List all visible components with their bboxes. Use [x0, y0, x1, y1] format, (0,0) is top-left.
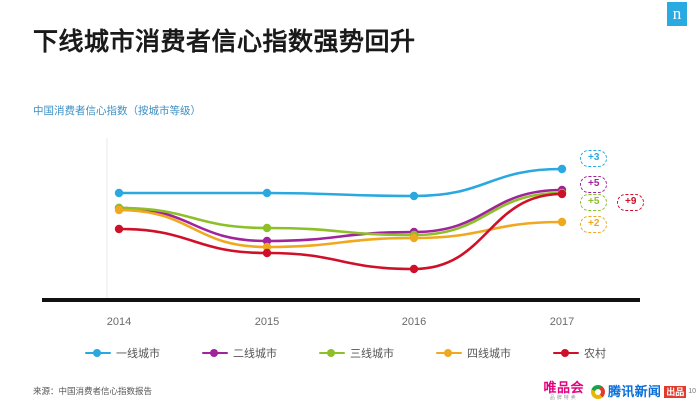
legend-item-四线城市[interactable]: 四线城市 [436, 345, 511, 361]
page-title: 下线城市消费者信心指数强势回升 [33, 22, 416, 58]
data-point[interactable] [410, 228, 418, 236]
series-lines [119, 169, 562, 269]
legend-label: 四线城市 [467, 345, 511, 361]
legend-marker-icon [319, 348, 345, 358]
footer-tail-text: 10 [688, 388, 696, 395]
value-badge-一线城市: +3 [580, 150, 607, 167]
series-line-3 [119, 210, 562, 247]
data-point[interactable] [115, 206, 123, 214]
series-dots [115, 165, 566, 273]
value-badge-四线城市: +2 [580, 216, 607, 233]
legend-marker-icon [436, 348, 462, 358]
legend-item-三线城市[interactable]: 三线城市 [319, 345, 394, 361]
data-point[interactable] [263, 189, 271, 197]
legend-item-农村[interactable]: 农村 [553, 345, 606, 361]
legend-label: 三线城市 [350, 345, 394, 361]
data-point[interactable] [263, 224, 271, 232]
data-point[interactable] [115, 225, 123, 233]
data-point[interactable] [263, 237, 271, 245]
legend-label: 一线城市 [116, 345, 160, 361]
x-tick-2015: 2015 [237, 316, 297, 328]
data-point[interactable] [558, 190, 566, 198]
legend-item-一线城市[interactable]: 一线城市 [85, 345, 160, 361]
series-line-1 [119, 190, 562, 241]
vipshop-logo: 唯品会 品牌特卖 [543, 381, 584, 402]
vipshop-logo-sub: 品牌特卖 [550, 395, 578, 402]
series-line-0 [119, 169, 562, 196]
data-point[interactable] [115, 189, 123, 197]
x-tick-2016: 2016 [384, 316, 444, 328]
data-point[interactable] [410, 231, 418, 239]
data-point[interactable] [410, 192, 418, 200]
footer-logos: 唯品会 品牌特卖 腾讯新闻 出品 10 [543, 381, 696, 402]
chart-legend: 一线城市二线城市三线城市四线城市农村 [85, 345, 625, 361]
x-tick-2014: 2014 [89, 316, 149, 328]
series-line-4 [119, 194, 562, 269]
x-axis-line [42, 298, 640, 302]
data-point[interactable] [558, 186, 566, 194]
data-point[interactable] [410, 234, 418, 242]
legend-marker-icon [202, 348, 228, 358]
legend-marker-icon [553, 348, 579, 358]
tencent-penguin-icon [591, 385, 605, 399]
series-line-2 [119, 193, 562, 235]
nielsen-logo: n [667, 2, 687, 26]
data-point[interactable] [558, 189, 566, 197]
legend-marker-icon [85, 348, 111, 358]
data-point[interactable] [410, 265, 418, 273]
tencent-produced-badge: 出品 [664, 386, 686, 398]
chart-subtitle: 中国消费者信心指数（按城市等级） [33, 103, 201, 118]
data-point[interactable] [263, 249, 271, 257]
vipshop-logo-main: 唯品会 [543, 381, 584, 395]
legend-label: 农村 [584, 345, 606, 361]
data-point[interactable] [558, 218, 566, 226]
source-note: 来源：中国消费者信心指数报告 [33, 385, 152, 397]
data-point[interactable] [263, 243, 271, 251]
value-badge-农村: +9 [617, 194, 644, 211]
value-badge-二线城市: +5 [580, 176, 607, 193]
data-point[interactable] [115, 204, 123, 212]
data-point[interactable] [115, 204, 123, 212]
x-tick-2017: 2017 [532, 316, 592, 328]
legend-label: 二线城市 [233, 345, 277, 361]
tencent-news-logo-text: 腾讯新闻 [608, 385, 661, 399]
value-badge-三线城市: +5 [580, 194, 607, 211]
legend-item-二线城市[interactable]: 二线城市 [202, 345, 277, 361]
data-point[interactable] [558, 165, 566, 173]
